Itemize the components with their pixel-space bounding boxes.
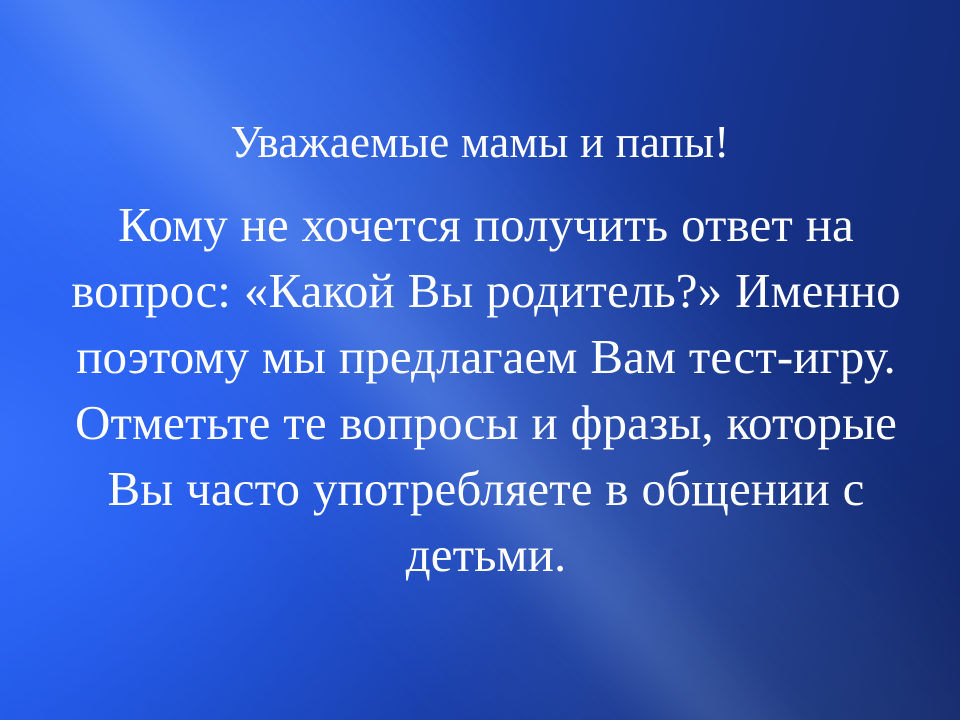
slide-title: Уважаемые мамы и папы! <box>0 116 960 168</box>
presentation-slide: Уважаемые мамы и папы! Кому не хочется п… <box>0 0 960 720</box>
slide-body-text: Кому не хочется получить ответ на вопрос… <box>70 192 902 588</box>
slide-body-block: Кому не хочется получить ответ на вопрос… <box>70 192 902 588</box>
slide-content: Уважаемые мамы и папы! Кому не хочется п… <box>0 0 960 720</box>
slide-title-block: Уважаемые мамы и папы! <box>0 116 960 168</box>
